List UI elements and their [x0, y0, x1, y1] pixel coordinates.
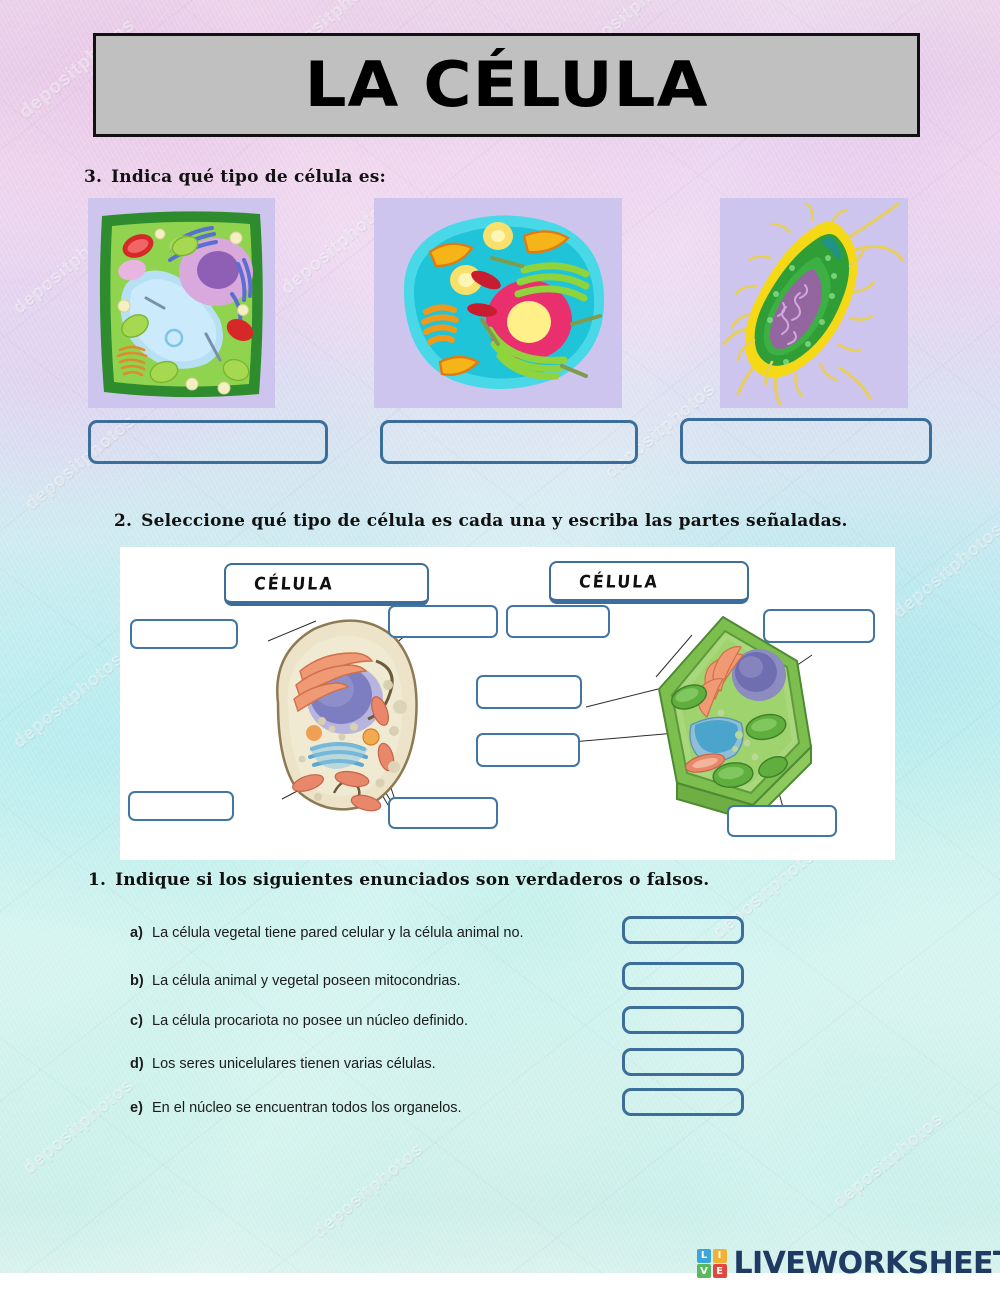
- animal-part-2[interactable]: [388, 605, 498, 638]
- logo-tile-v: V: [697, 1264, 711, 1278]
- title-banner: LA CÉLULA: [93, 33, 920, 137]
- question-2-diagram-panel: CÉLULA CÉLULA: [120, 547, 895, 860]
- question-2-number: 2.: [114, 511, 132, 531]
- plant-part-5[interactable]: [727, 805, 837, 837]
- statement-d-letter: d): [130, 1056, 152, 1072]
- question-1-heading: 1.Indique si los siguientes enunciados s…: [88, 870, 709, 890]
- question-1-text: Indique si los siguientes enunciados son…: [115, 870, 709, 890]
- statement-e-letter: e): [130, 1100, 152, 1116]
- plant-cell-title-box[interactable]: CÉLULA: [549, 561, 749, 604]
- logo-tile-i: I: [713, 1249, 727, 1263]
- statement-a-letter: a): [130, 925, 152, 941]
- animal-part-4[interactable]: [388, 797, 498, 829]
- statement-d-answer[interactable]: [622, 1048, 744, 1076]
- animal-part-1[interactable]: [130, 619, 238, 649]
- question-2-heading: 2.Seleccione qué tipo de célula es cada …: [114, 511, 848, 531]
- statement-e-text: En el núcleo se encuentran todos los org…: [152, 1100, 462, 1116]
- liveworksheets-wordmark: LIVEWORKSHEETS: [734, 1246, 1000, 1281]
- plant-cell-title-label: CÉLULA: [578, 571, 659, 592]
- bacteria-cell-illustration: [720, 198, 908, 408]
- statement-c-letter: c): [130, 1013, 152, 1029]
- question-1-number: 1.: [88, 870, 106, 890]
- plant-part-4[interactable]: [763, 609, 875, 643]
- question-3-text: Indica qué tipo de célula es:: [111, 167, 386, 187]
- plant-part-1[interactable]: [506, 605, 610, 638]
- statement-b: b)La célula animal y vegetal poseen mito…: [130, 973, 461, 989]
- statement-e: e)En el núcleo se encuentran todos los o…: [130, 1100, 462, 1116]
- animal-part-3[interactable]: [128, 791, 234, 821]
- statement-a-answer[interactable]: [622, 916, 744, 944]
- logo-tile-e: E: [713, 1264, 727, 1278]
- statement-b-answer[interactable]: [622, 962, 744, 990]
- page-title: LA CÉLULA: [305, 54, 709, 116]
- animal-cell-diagram-image: [248, 607, 423, 822]
- statement-a: a)La célula vegetal tiene pared celular …: [130, 925, 524, 941]
- statement-d-text: Los seres unicelulares tienen varias cél…: [152, 1056, 436, 1072]
- statement-a-text: La célula vegetal tiene pared celular y …: [152, 925, 524, 941]
- animal-cell-title-box[interactable]: CÉLULA: [224, 563, 429, 606]
- plant-cell-illustration: [88, 198, 275, 408]
- q3-answer-2[interactable]: [380, 420, 638, 464]
- statement-e-answer[interactable]: [622, 1088, 744, 1116]
- q3-answer-1[interactable]: [88, 420, 328, 464]
- liveworksheets-logo[interactable]: L I V E LIVEWORKSHEETS: [697, 1246, 1000, 1281]
- q3-answer-3[interactable]: [680, 418, 932, 464]
- question-3-heading: 3.Indica qué tipo de célula es:: [84, 167, 386, 187]
- statement-c: c)La célula procariota no posee un núcle…: [130, 1013, 468, 1029]
- statement-c-answer[interactable]: [622, 1006, 744, 1034]
- plant-part-3[interactable]: [476, 733, 580, 767]
- logo-tile-l: L: [697, 1249, 711, 1263]
- question-2-text: Seleccione qué tipo de célula es cada un…: [141, 511, 848, 531]
- statement-b-text: La célula animal y vegetal poseen mitoco…: [152, 973, 461, 989]
- plant-part-2[interactable]: [476, 675, 582, 709]
- statement-b-letter: b): [130, 973, 152, 989]
- animal-cell-title-label: CÉLULA: [253, 573, 334, 594]
- statement-d: d)Los seres unicelulares tienen varias c…: [130, 1056, 436, 1072]
- statement-c-text: La célula procariota no posee un núcleo …: [152, 1013, 468, 1029]
- question-3-number: 3.: [84, 167, 102, 187]
- animal-cell-illustration: [374, 198, 622, 408]
- liveworksheets-logo-tiles: L I V E: [697, 1249, 727, 1279]
